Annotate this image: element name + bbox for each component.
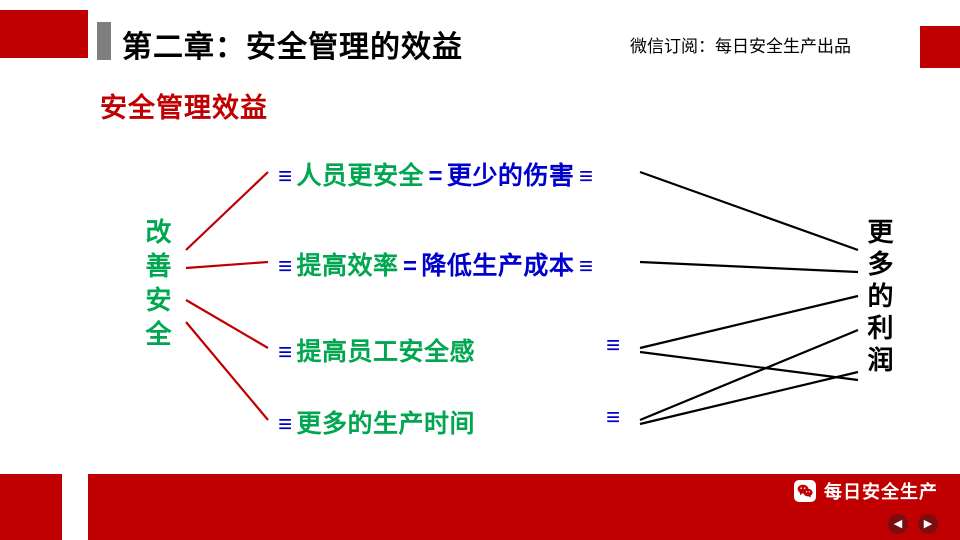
- left-cause-label: 改善安全: [140, 218, 174, 354]
- diagram-row: ≡ 提高效率 = 降低生产成本 ≡: [278, 246, 593, 282]
- prev-slide-button[interactable]: ◀: [888, 514, 908, 534]
- row4-trail-symbol: ≡: [606, 404, 620, 431]
- header-grey-bar: [97, 22, 111, 60]
- row1-trail-symbol: ≡: [579, 163, 593, 190]
- diagram-row: ≡ 更多的生产时间: [278, 404, 475, 440]
- slide-navigation[interactable]: ◀ ▶: [888, 514, 938, 534]
- slide-root: 第二章：安全管理的效益 微信订阅：每日安全生产出品 安全管理效益 改善安全 更多…: [0, 0, 960, 540]
- row2-trail-symbol: ≡: [579, 253, 593, 280]
- right-result-label: 更多的利润: [862, 218, 896, 378]
- row2-equals-symbol: =: [403, 253, 417, 280]
- row1-cause: 人员更安全: [296, 162, 424, 190]
- footer-wechat-label: 每日安全生产: [824, 478, 938, 504]
- footer-wechat-credit: 每日安全生产: [794, 478, 938, 504]
- header-accent-right: [920, 26, 960, 68]
- row2-cause: 提高效率: [296, 252, 398, 280]
- section-title: 安全管理效益: [100, 86, 268, 125]
- row3-lead-symbol: ≡: [278, 339, 292, 366]
- row1-equals-symbol: =: [428, 163, 442, 190]
- diagram-row: ≡ 提高员工安全感: [278, 332, 475, 368]
- row4-lead-symbol: ≡: [278, 411, 292, 438]
- row4-trail-symbol-wrap: ≡: [606, 404, 620, 432]
- header-accent-left: [0, 10, 88, 58]
- row4-cause: 更多的生产时间: [296, 410, 475, 438]
- row2-lead-symbol: ≡: [278, 253, 292, 280]
- page-title: 第二章：安全管理的效益: [122, 22, 463, 66]
- row1-effect: 更少的伤害: [447, 162, 575, 190]
- row3-trail-symbol-wrap: ≡: [606, 332, 620, 360]
- row3-cause: 提高员工安全感: [296, 338, 475, 366]
- footer-notch: [62, 474, 88, 540]
- row2-effect: 降低生产成本: [421, 252, 574, 280]
- row3-trail-symbol: ≡: [606, 332, 620, 359]
- diagram-row: ≡ 人员更安全 = 更少的伤害 ≡: [278, 156, 593, 192]
- wechat-icon: [794, 480, 816, 502]
- next-slide-button[interactable]: ▶: [918, 514, 938, 534]
- row1-lead-symbol: ≡: [278, 163, 292, 190]
- header-subscribe-note: 微信订阅：每日安全生产出品: [630, 32, 851, 57]
